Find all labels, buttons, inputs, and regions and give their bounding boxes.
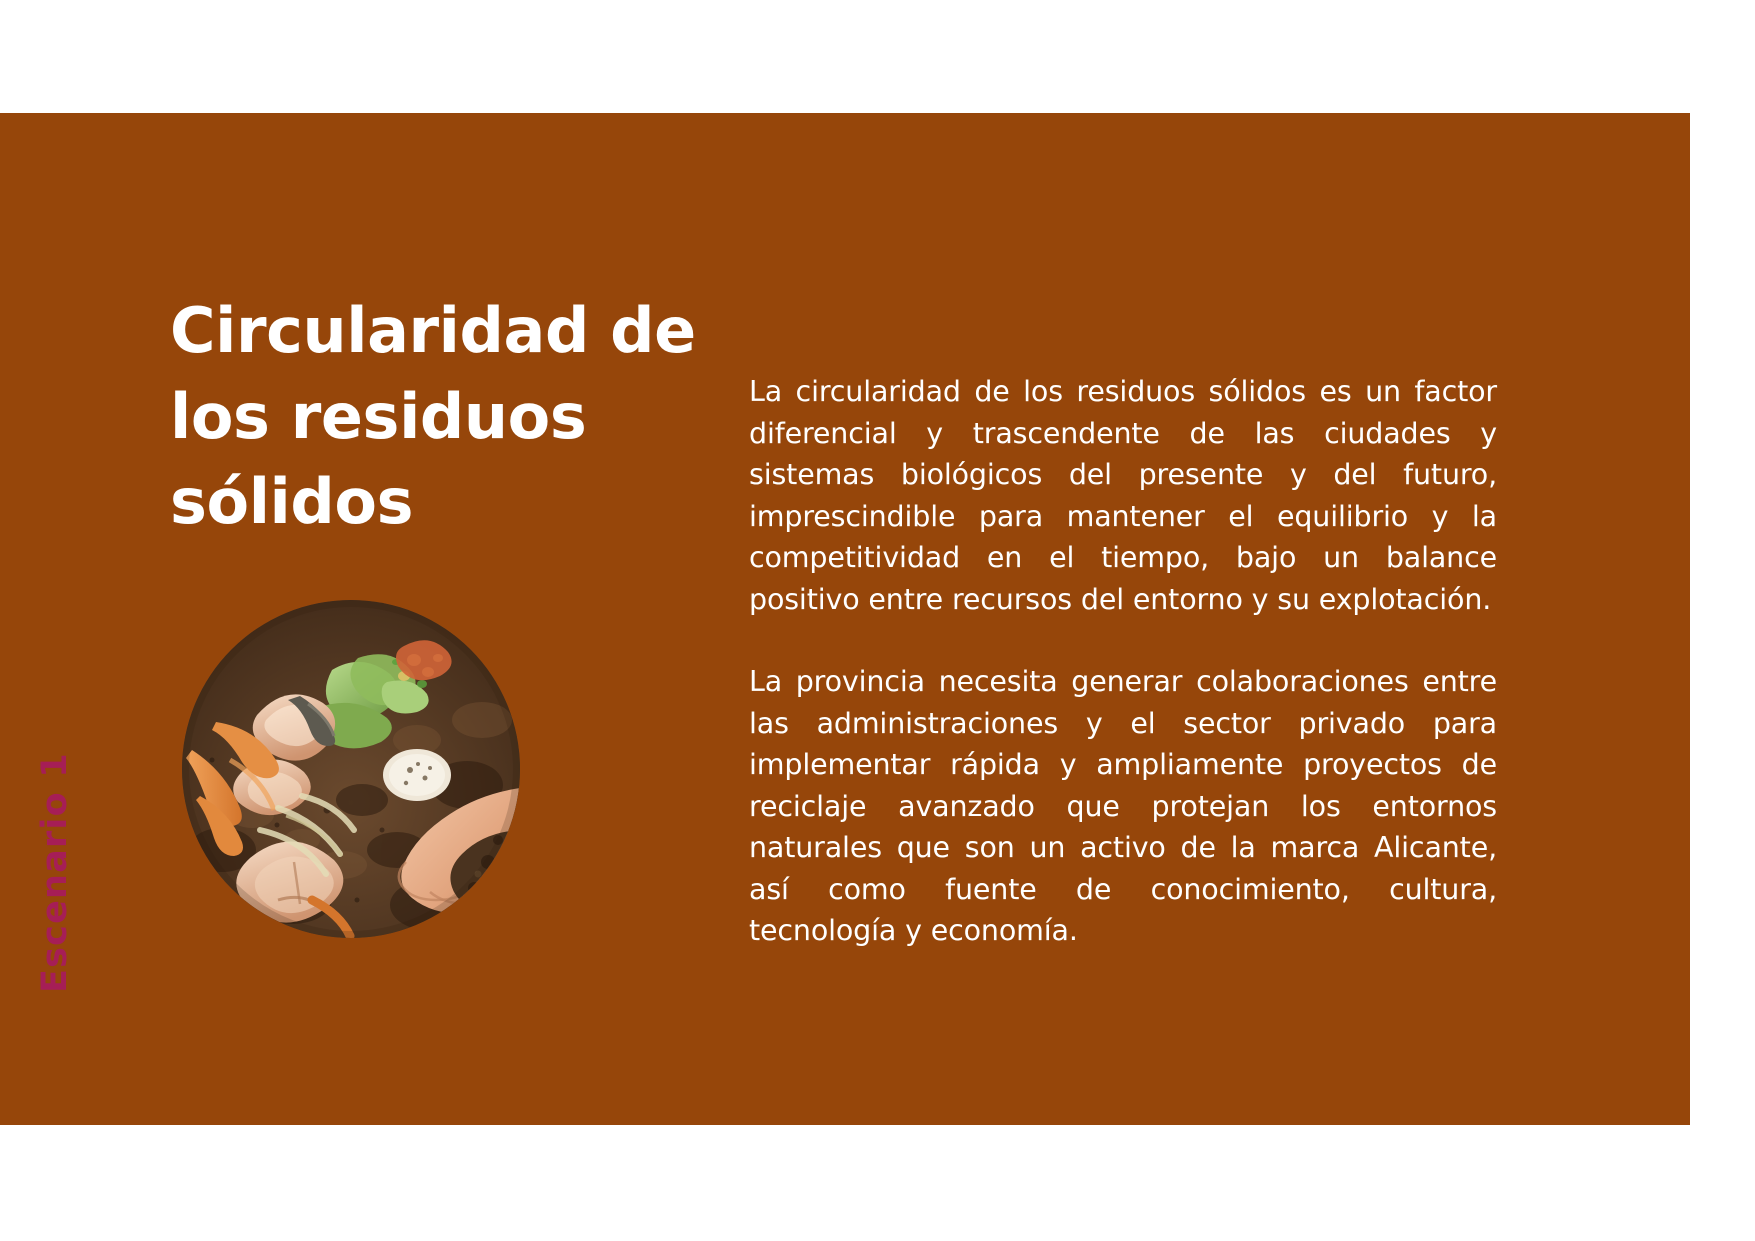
compost-soil-hands-photo: [182, 600, 520, 938]
left-column: Circularidad de los residuos sólidos: [170, 288, 730, 545]
body-paragraph-1: La circularidad de los residuos sólidos …: [749, 371, 1497, 620]
slide-content-panel: Escenario 1 Circularidad de los residuos…: [0, 113, 1690, 1125]
page-title: Circularidad de los residuos sólidos: [170, 288, 710, 545]
body-paragraph-2: La provincia necesita generar colaboraci…: [749, 661, 1497, 952]
compost-photo-illustration: [182, 600, 520, 938]
body-text-column: La circularidad de los residuos sólidos …: [749, 371, 1497, 952]
scenario-vertical-label: Escenario 1: [35, 713, 75, 993]
slide-page: Escenario 1 Circularidad de los residuos…: [0, 0, 1755, 1241]
